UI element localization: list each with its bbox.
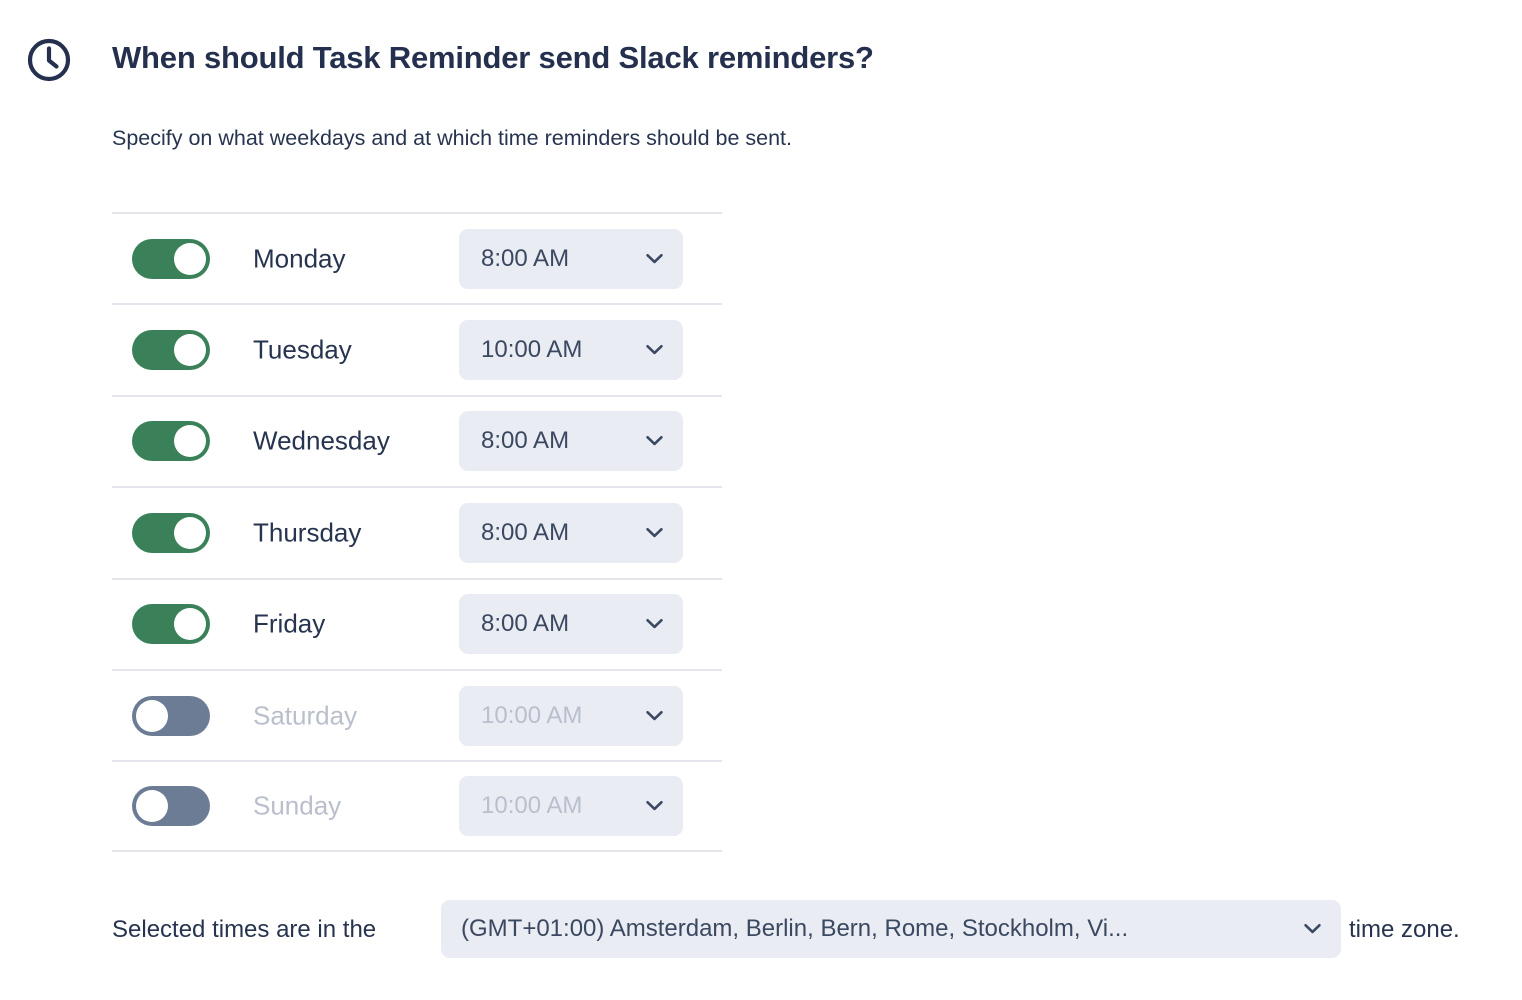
day-label-thursday: Thursday [253,517,361,548]
time-value-tuesday: 10:00 AM [481,320,582,380]
timezone-prefix-label: Selected times are in the [112,900,376,960]
time-value-monday: 8:00 AM [481,229,569,289]
toggle-tuesday[interactable] [132,330,210,370]
chevron-down-icon [1304,924,1321,935]
time-select-monday[interactable]: 8:00 AM [459,229,683,289]
day-label-friday: Friday [253,609,325,640]
time-value-sunday: 10:00 AM [481,776,582,836]
table-row: Friday 8:00 AM [112,578,722,669]
time-value-saturday: 10:00 AM [481,686,582,746]
timezone-value: (GMT+01:00) Amsterdam, Berlin, Bern, Rom… [461,900,1128,958]
toggle-monday[interactable] [132,239,210,279]
time-select-tuesday[interactable]: 10:00 AM [459,320,683,380]
time-select-saturday[interactable]: 10:00 AM [459,686,683,746]
time-value-wednesday: 8:00 AM [481,411,569,471]
chevron-down-icon [646,619,663,630]
time-value-thursday: 8:00 AM [481,503,569,563]
time-select-sunday[interactable]: 10:00 AM [459,776,683,836]
toggle-knob [174,517,206,549]
chevron-down-icon [646,710,663,721]
clock-icon [26,37,72,83]
toggle-wednesday[interactable] [132,421,210,461]
time-select-wednesday[interactable]: 8:00 AM [459,411,683,471]
table-row: Saturday 10:00 AM [112,669,722,760]
table-row: Thursday 8:00 AM [112,486,722,577]
toggle-knob [174,334,206,366]
toggle-thursday[interactable] [132,513,210,553]
toggle-saturday[interactable] [132,696,210,736]
page-subtitle: Specify on what weekdays and at which ti… [112,126,792,151]
day-label-saturday: Saturday [253,700,357,731]
day-label-monday: Monday [253,243,346,274]
toggle-knob [136,790,168,822]
timezone-row: Selected times are in the (GMT+01:00) Am… [112,900,1492,960]
day-label-tuesday: Tuesday [253,335,352,366]
chevron-down-icon [646,436,663,447]
day-label-wednesday: Wednesday [253,426,390,457]
time-select-thursday[interactable]: 8:00 AM [459,503,683,563]
timezone-suffix-label: time zone. [1349,900,1460,960]
weekday-schedule-list: Monday 8:00 AM Tuesday 10:00 AM Wednesda… [112,212,722,852]
chevron-down-icon [646,345,663,356]
toggle-knob [174,243,206,275]
toggle-knob [174,425,206,457]
toggle-friday[interactable] [132,604,210,644]
timezone-select[interactable]: (GMT+01:00) Amsterdam, Berlin, Bern, Rom… [441,900,1341,958]
page-title: When should Task Reminder send Slack rem… [112,30,874,86]
time-value-friday: 8:00 AM [481,594,569,654]
time-select-friday[interactable]: 8:00 AM [459,594,683,654]
chevron-down-icon [646,801,663,812]
table-row: Monday 8:00 AM [112,212,722,303]
day-label-sunday: Sunday [253,791,341,822]
chevron-down-icon [646,527,663,538]
toggle-sunday[interactable] [132,786,210,826]
section-header: When should Task Reminder send Slack rem… [26,30,1426,86]
table-row: Sunday 10:00 AM [112,760,722,851]
chevron-down-icon [646,253,663,264]
toggle-knob [136,700,168,732]
table-row: Tuesday 10:00 AM [112,303,722,394]
table-row: Wednesday 8:00 AM [112,395,722,486]
toggle-knob [174,608,206,640]
